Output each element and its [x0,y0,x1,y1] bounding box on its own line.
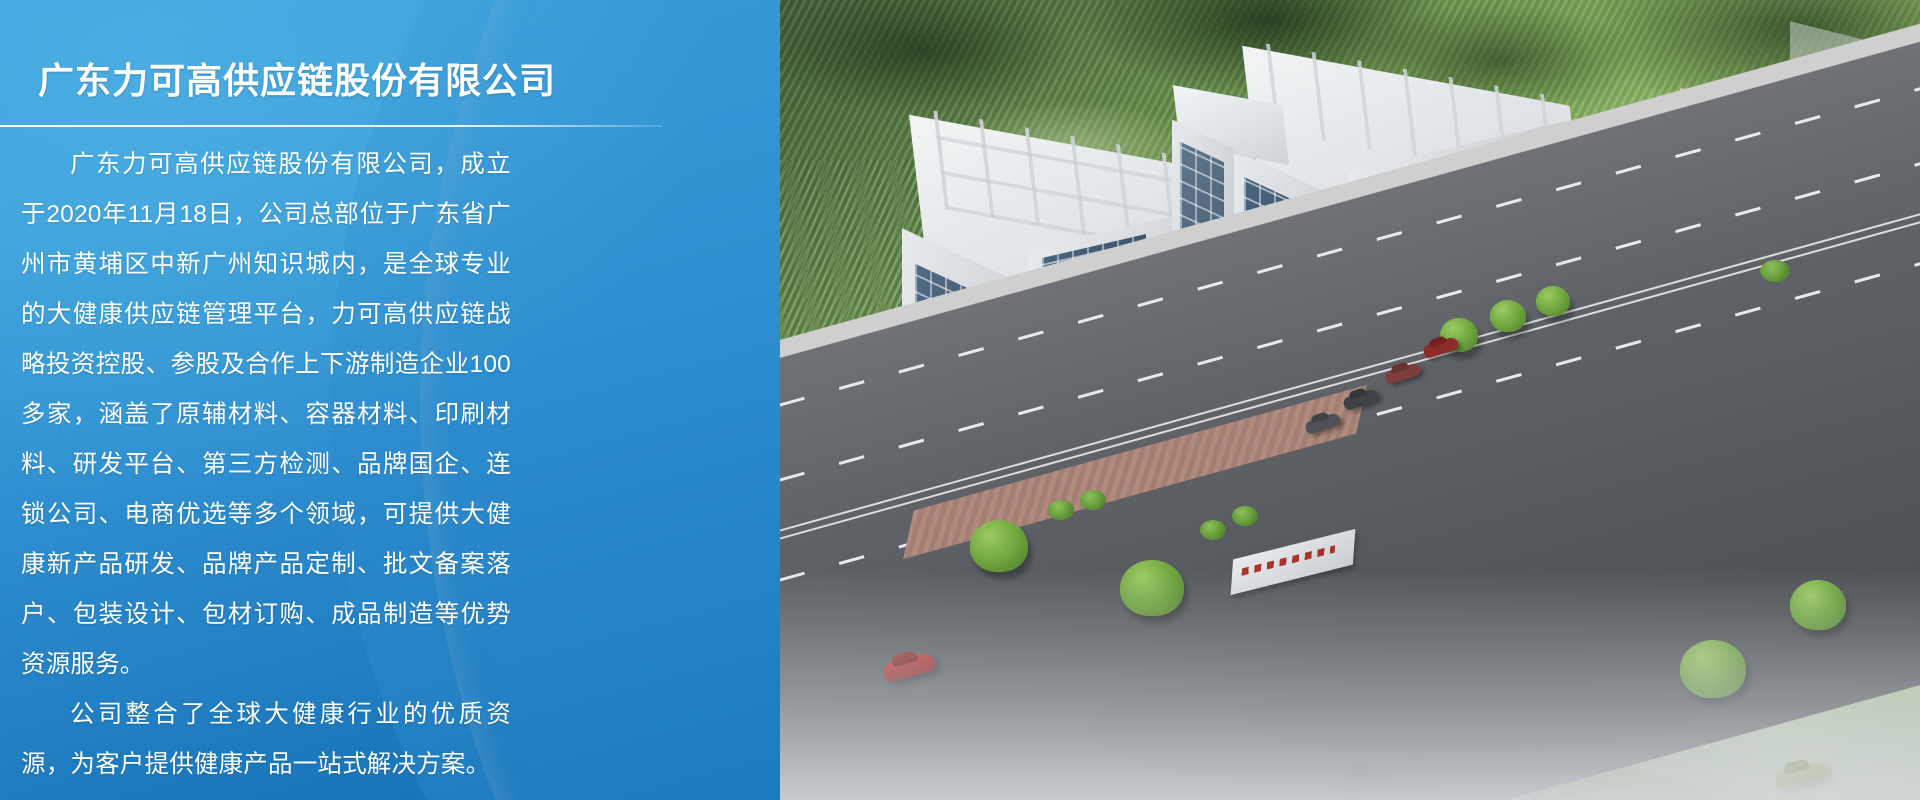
photo-tree-1 [970,520,1028,572]
photo-shrub-1 [1048,500,1074,520]
company-description-paragraph-1: 广东力可高供应链股份有限公司，成立于2020年11月18日，公司总部位于广东省广… [21,140,511,690]
banner-stage: 广东力可高供应链股份有限公司 广东力可高供应链股份有限公司，成立于2020年11… [0,0,1920,800]
aerial-photo [780,0,1920,800]
photo-shrub-4 [1232,506,1258,526]
text-panel: 广东力可高供应链股份有限公司 广东力可高供应链股份有限公司，成立于2020年11… [0,0,660,800]
photo-haze [780,570,1920,800]
company-description-paragraph-2: 公司整合了全球大健康行业的优质资源，为客户提供健康产品一站式解决方案。 [21,690,511,790]
photo-shrub-3 [1200,520,1226,540]
photo-shrub-2 [1080,490,1106,510]
page-title: 广东力可高供应链股份有限公司 [38,52,556,104]
company-description: 广东力可高供应链股份有限公司，成立于2020年11月18日，公司总部位于广东省广… [21,140,511,790]
title-divider [0,125,662,127]
photo-tree-6 [1490,300,1526,332]
photo-tree-7 [1536,286,1570,316]
photo-shrub-5 [1760,260,1790,282]
